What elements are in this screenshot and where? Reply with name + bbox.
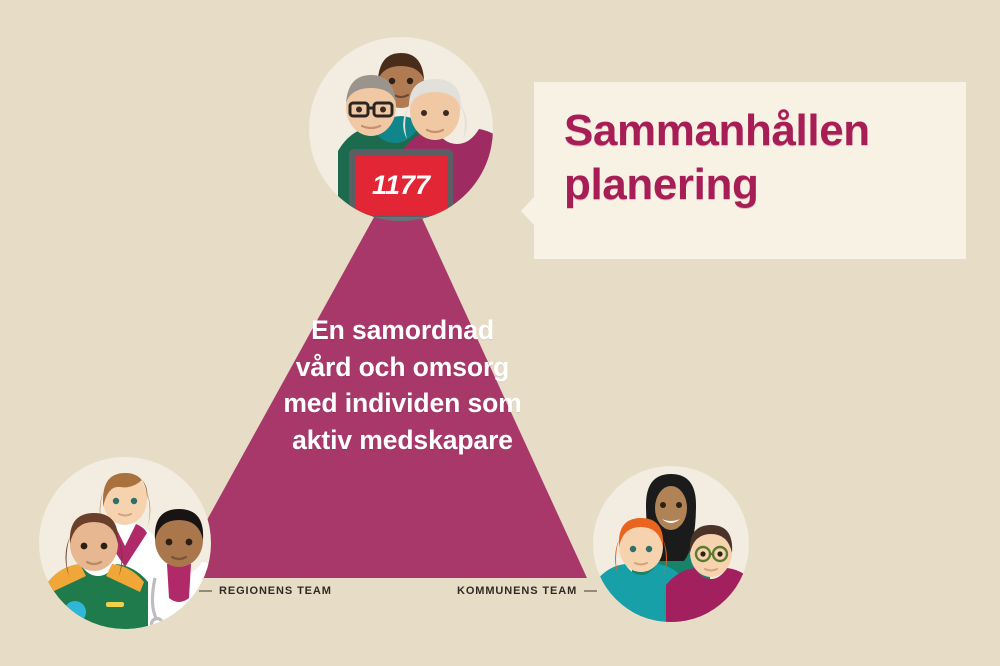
node-region-team[interactable] [34,452,216,634]
triangle-statement-line-4: aktiv medskapare [230,422,575,459]
page-title: Sammanhållen planering [564,104,964,211]
label-regionens-team: REGIONENS TEAM [199,585,332,597]
node-individual[interactable]: 1177 [303,31,499,227]
triangle-statement-line-3: med individen som [230,385,575,422]
triangle-statement-line-2: vård och omsorg [230,349,575,386]
label-kommunens-team-text: KOMMUNENS TEAM [457,585,577,597]
node-municipal-team[interactable] [588,461,754,627]
label-regionens-team-text: REGIONENS TEAM [219,585,332,597]
callout-bubble-tail-icon [521,196,535,226]
triangle-statement-line-1: En samordnad [230,312,575,349]
dash-icon [199,590,212,592]
label-kommunens-team: KOMMUNENS TEAM [457,585,597,597]
page-title-line-2: planering [564,158,964,212]
laptop-screen-label: 1177 [372,170,432,200]
triangle-statement: En samordnad vård och omsorg med individ… [230,312,575,458]
infographic-canvas: En samordnad vård och omsorg med individ… [0,0,1000,666]
dash-icon [584,590,597,592]
page-title-line-1: Sammanhållen [564,104,964,158]
